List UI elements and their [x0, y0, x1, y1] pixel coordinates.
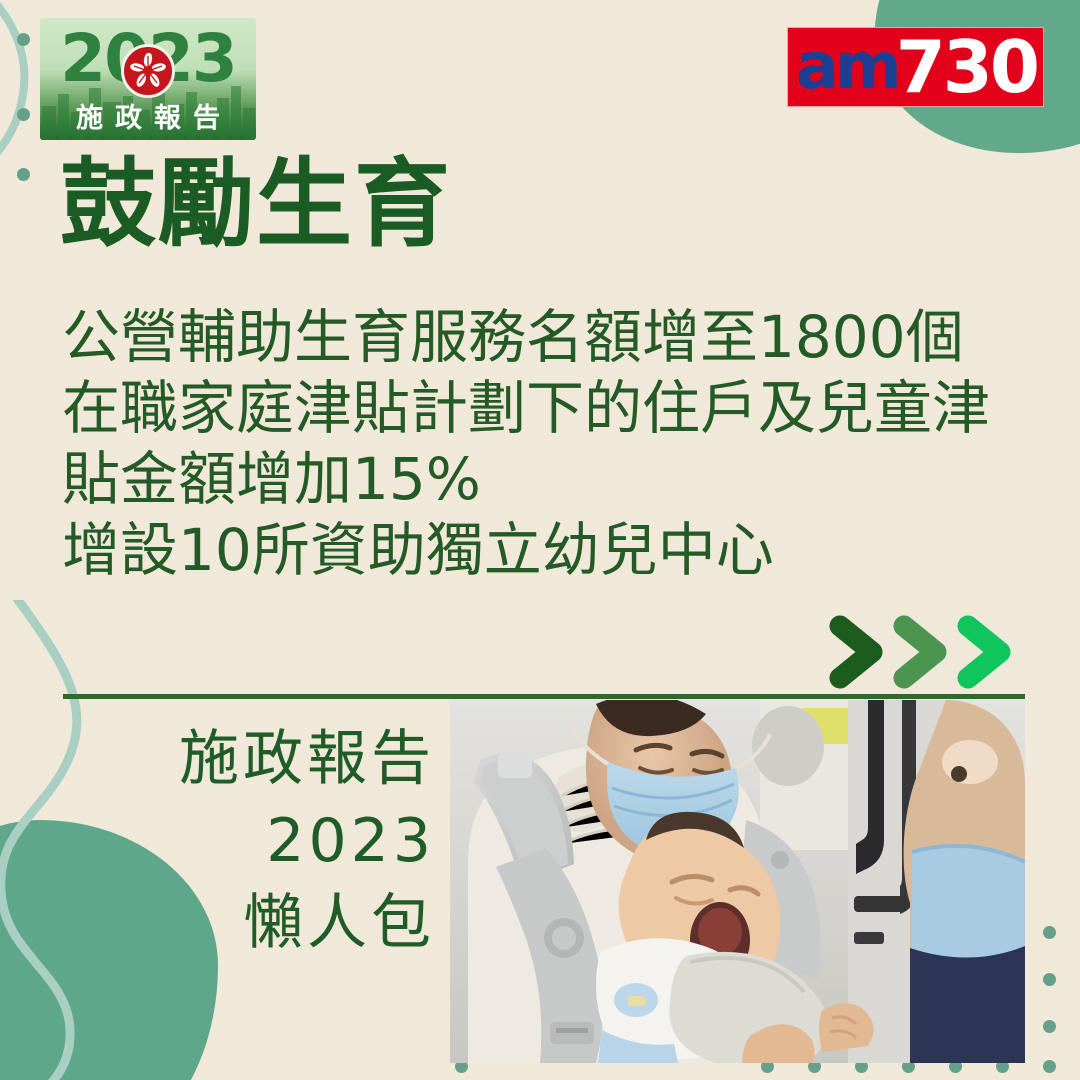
policy-address-logo: 2023 施政報告 [40, 18, 256, 140]
am730-number: 730 [896, 33, 1037, 101]
footer-caption: 施政報告 2023 懶人包 [60, 718, 435, 964]
decor-dot [1043, 973, 1056, 986]
logo-subtitle: 施政報告 [40, 104, 256, 134]
bullet-line: 貼金額增加15% [62, 444, 1042, 515]
bullet-line: 增設10所資助獨立幼兒中心 [62, 515, 1042, 586]
decor-dot [1043, 1020, 1056, 1033]
decor-dot [17, 108, 30, 121]
decor-dot [17, 33, 30, 46]
chevron-arrows [828, 614, 1028, 690]
bauhinia-emblem-icon [121, 44, 175, 98]
footer-line: 懶人包 [60, 882, 435, 964]
decor-dot [1043, 1060, 1056, 1073]
footer-line: 2023 [60, 800, 435, 882]
decor-dot [1043, 926, 1056, 939]
page-title: 鼓勵生育 [60, 152, 452, 256]
bullet-line: 在職家庭津貼計劃下的住戶及兒童津 [62, 373, 1042, 444]
chevron-right-icon [904, 626, 936, 678]
news-photo [450, 700, 1025, 1063]
section-divider [63, 694, 1025, 699]
chevron-right-icon [840, 626, 872, 678]
decor-dot [17, 168, 30, 181]
am730-prefix: am [796, 35, 898, 99]
am730-logo[interactable]: am 730 [787, 27, 1044, 107]
poster-canvas: 2023 施政報告 am 730 鼓勵生育 公營輔助生 [0, 0, 1080, 1080]
footer-line: 施政報告 [60, 718, 435, 800]
bullet-list: 公營輔助生育服務名額增至1800個 在職家庭津貼計劃下的住戶及兒童津 貼金額增加… [62, 302, 1042, 586]
bullet-line: 公營輔助生育服務名額增至1800個 [62, 302, 1042, 373]
chevron-right-icon [968, 626, 1000, 678]
